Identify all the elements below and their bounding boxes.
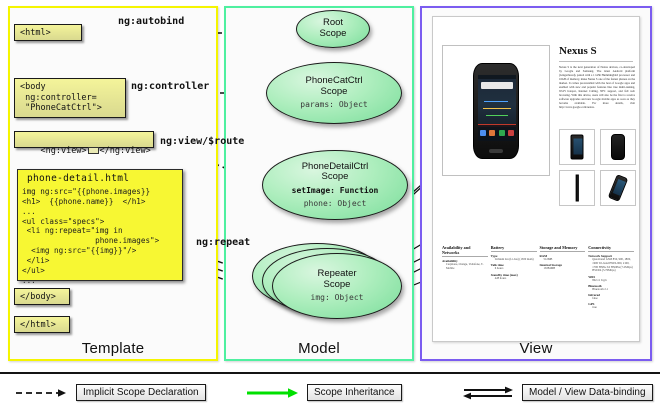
- legend-divider: [0, 372, 660, 374]
- tag-body-open: <body ng:controller= "PhoneCatCtrl">: [14, 78, 126, 118]
- thumbnail-phone-back[interactable]: [600, 129, 636, 165]
- spec-value: 16384MB: [540, 267, 586, 271]
- scope-root-line2: Scope: [320, 29, 347, 40]
- spec-col-storage: Storage and Memory RAM 512MB Internal St…: [540, 245, 586, 310]
- scope-detail-prop-phone: phone: Object: [304, 199, 367, 209]
- title-divider: [559, 61, 633, 62]
- phone-wire-blue: [484, 101, 508, 103]
- ngview-close-text: </ng:view>: [100, 146, 151, 156]
- label-ng-view-route: ng:view/$route: [160, 136, 244, 147]
- thumbnail-phone-angled[interactable]: [600, 170, 636, 206]
- phone-wire-yellow: [483, 108, 511, 110]
- tag-ngview: <ng:view></ng:view>: [14, 131, 154, 148]
- tag-html-close: </html>: [14, 316, 70, 333]
- product-description: Nexus S is the next generation of Nexus …: [559, 65, 635, 109]
- ngview-slot-icon: [88, 147, 99, 154]
- spec-value: 428 hours: [491, 277, 537, 281]
- scope-detail-line2: Scope: [322, 172, 349, 183]
- spec-table: Availability and Networks Availability C…: [442, 245, 634, 310]
- legend-label-scope-inheritance: Scope Inheritance: [307, 384, 402, 401]
- spec-col-connectivity: Connectivity Network Support Quad-band G…: [588, 245, 634, 310]
- phone-front-icon: [571, 135, 584, 160]
- legend-label-data-binding: Model / View Data-binding: [522, 384, 653, 401]
- spec-col-availability: Availability and Networks Availability C…: [442, 245, 488, 310]
- phone-statusbar: [478, 75, 516, 79]
- phone-dock: [478, 125, 516, 141]
- spec-value: Bluetooth 2.1: [588, 288, 634, 292]
- spec-value: 512MB: [540, 258, 586, 262]
- spec-header-storage: Storage and Memory: [540, 245, 586, 252]
- spec-header-availability: Availability and Networks: [442, 245, 488, 257]
- phone-dock-icon-2: [489, 130, 495, 136]
- phone-side-icon: [576, 175, 579, 202]
- thumbnail-phone-side[interactable]: [559, 170, 595, 206]
- spec-value: Quad-band GSM 850, 900, 1800, 1900 Tri-b…: [588, 258, 634, 273]
- spec-value: Carphone, Orange, Vodafone, T-Mobile: [442, 263, 488, 271]
- spec-header-connectivity: Connectivity: [588, 245, 634, 252]
- phone-screen: [478, 75, 516, 141]
- phone-dock-icon-3: [499, 130, 505, 136]
- phone-home-button: [489, 149, 503, 153]
- scope-phonedetailctrl: PhoneDetailCtrl Scope setImage: Function…: [262, 150, 408, 220]
- scope-repeater-prop-img: img: Object: [311, 293, 364, 303]
- label-ng-repeat: ng:repeat: [196, 237, 250, 248]
- scope-repeater-line2: Scope: [324, 280, 351, 291]
- thumbnail-phone-front[interactable]: [559, 129, 595, 165]
- label-ng-autobind: ng:autobind: [118, 16, 184, 27]
- spec-header-battery: Battery: [491, 245, 537, 252]
- panel-template-label: Template: [10, 340, 216, 357]
- rendered-view-page: Nexus S Nexus S is the next generation o…: [432, 16, 640, 342]
- legend-item-implicit-scope: Implicit Scope Declaration: [14, 384, 206, 401]
- scope-catctrl-line2: Scope: [321, 87, 348, 98]
- note-code: img ng:src="{{phone.images}} <h1> {{phon…: [18, 186, 182, 286]
- tag-body-close: </body>: [14, 288, 70, 305]
- phone-dock-icon-1: [480, 130, 486, 136]
- dashed-arrow-icon: [14, 385, 70, 401]
- legend: Implicit Scope Declaration Scope Inherit…: [0, 372, 660, 420]
- green-arrow-icon: [245, 385, 301, 401]
- tag-html-open: <html>: [14, 24, 82, 41]
- legend-item-data-binding: Model / View Data-binding: [460, 384, 653, 401]
- scope-catctrl-prop-params: params: Object: [300, 100, 367, 110]
- spec-col-battery: Battery Type Lithium Ion (Li-Ion) (1500 …: [491, 245, 537, 310]
- note-title: phone-detail.html: [18, 170, 182, 186]
- phone-dock-icon-4: [508, 130, 514, 136]
- spec-value: true: [588, 306, 634, 310]
- phone-back-icon: [611, 134, 625, 160]
- spec-value: 6 hours: [491, 267, 537, 271]
- product-title: Nexus S: [559, 45, 597, 57]
- scope-detail-prop-setimage: setImage: Function: [292, 186, 379, 196]
- diagram-root: Template <html> <body ng:controller= "Ph…: [0, 0, 660, 420]
- label-ng-controller: ng:controller: [131, 81, 209, 92]
- scope-phonecatctrl: PhoneCatCtrl Scope params: Object: [266, 62, 402, 124]
- phone-angled-icon: [608, 174, 628, 202]
- legend-label-implicit-scope: Implicit Scope Declaration: [76, 384, 206, 401]
- legend-item-scope-inheritance: Scope Inheritance: [245, 384, 402, 401]
- phone-device-graphic: [473, 63, 519, 159]
- scope-repeater: Repeater Scope img: Object: [272, 253, 402, 319]
- spec-value: false: [588, 297, 634, 301]
- phone-hero-image: [442, 45, 550, 176]
- panel-view-label: View: [422, 340, 650, 357]
- spec-value: 802.11 b/g/n: [588, 279, 634, 283]
- double-arrow-icon: [460, 385, 516, 401]
- scope-root: Root Scope: [296, 10, 370, 48]
- panel-model-label: Model: [226, 340, 412, 357]
- note-phone-detail-html: phone-detail.html img ng:src="{{phone.im…: [17, 169, 183, 281]
- thumbnail-grid: [559, 129, 637, 206]
- ngview-open-text: <ng:view>: [40, 146, 86, 156]
- phone-search-widget: [481, 82, 513, 89]
- spec-value: Lithium Ion (Li-Ion) (1500 mAh): [491, 258, 537, 262]
- phone-wire-green: [486, 115, 508, 117]
